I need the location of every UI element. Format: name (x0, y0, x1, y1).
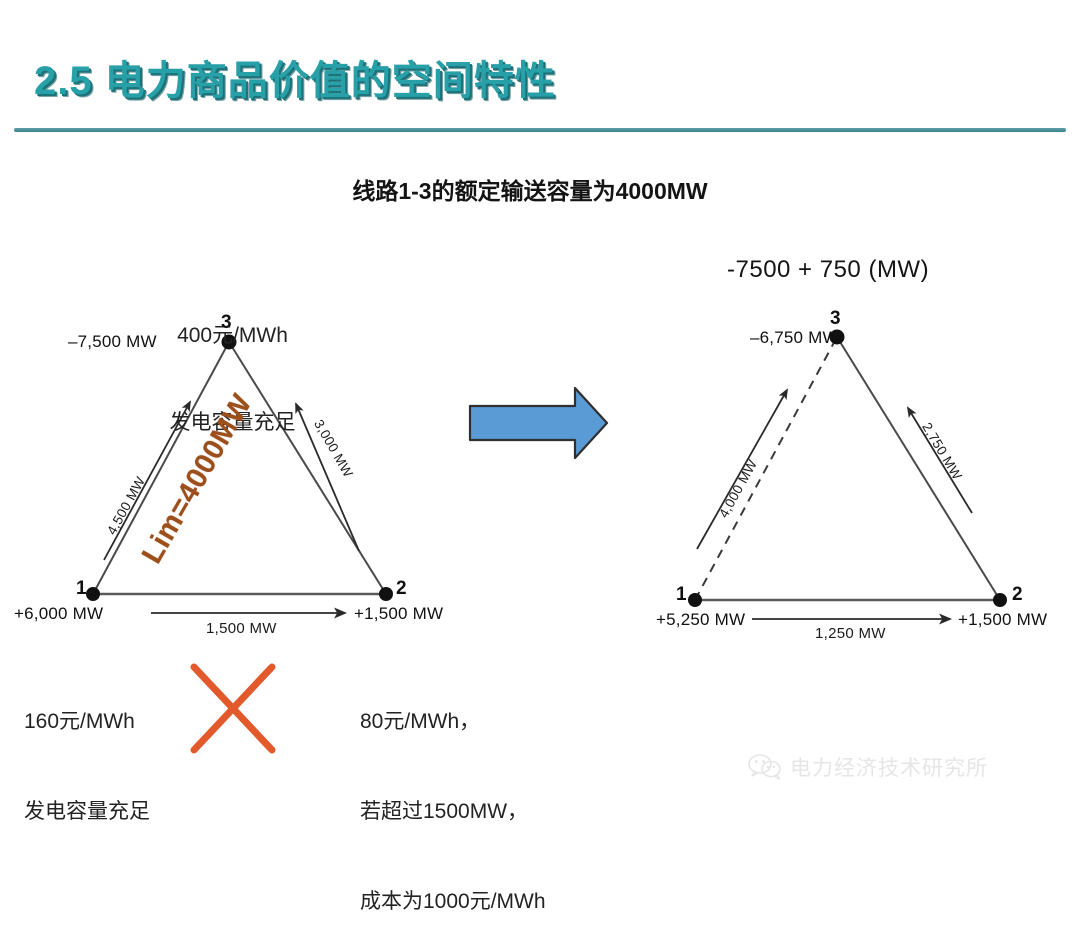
left-edge-label-1-2: 1,500 MW (206, 620, 277, 637)
left-edge-label-1-3: 4,500 MW (104, 474, 148, 537)
left-node-2-value: +1,500 MW (354, 604, 443, 624)
right-node-3-id: 3 (830, 308, 841, 330)
blue-right-arrow (470, 388, 607, 458)
right-node-2-value: +1,500 MW (958, 610, 1047, 630)
right-node-1-id: 1 (676, 584, 687, 606)
left-node-1-id: 1 (76, 578, 87, 600)
right-diagram-header: -7500 + 750 (MW) (727, 256, 929, 284)
left-node2-threshold: 若超过1500MW， (360, 797, 546, 827)
left-node2-price: 80元/MWh， (360, 707, 546, 737)
wechat-icon (748, 754, 782, 780)
left-node1-price-note: 160元/MWh 发电容量充足 (24, 647, 150, 857)
watermark-text: 电力经济技术研究所 (790, 752, 988, 782)
title-divider (14, 128, 1066, 132)
right-edge-label-2-3: 2,750 MW (919, 420, 965, 483)
right-node-3-value: –6,750 MW (750, 328, 839, 348)
left-node-3-id: 3 (221, 312, 232, 334)
diagram-caption: 线路1-3的额定输送容量为4000MW (0, 172, 1060, 206)
right-edge-label-1-2: 1,250 MW (815, 625, 886, 642)
left-node1-price: 160元/MWh (24, 707, 150, 737)
right-edge-label-1-3: 4,000 MW (716, 457, 760, 520)
left-node-1-value: +6,000 MW (14, 604, 103, 624)
left-node-3-value: –7,500 MW (68, 332, 157, 352)
page-title: 2.5 电力商品价值的空间特性 (34, 48, 556, 106)
cross-mark-icon (194, 667, 272, 750)
watermark: 电力经济技术研究所 (748, 752, 988, 782)
left-node2-price-note: 80元/MWh， 若超过1500MW， 成本为1000元/MWh (360, 647, 546, 947)
right-node-2-id: 2 (1012, 584, 1023, 606)
left-node-2-id: 2 (396, 578, 407, 600)
right-node-1-value: +5,250 MW (656, 610, 745, 630)
left-node2-cost: 成本为1000元/MWh (360, 887, 546, 917)
left-node1-capacity: 发电容量充足 (24, 797, 150, 827)
